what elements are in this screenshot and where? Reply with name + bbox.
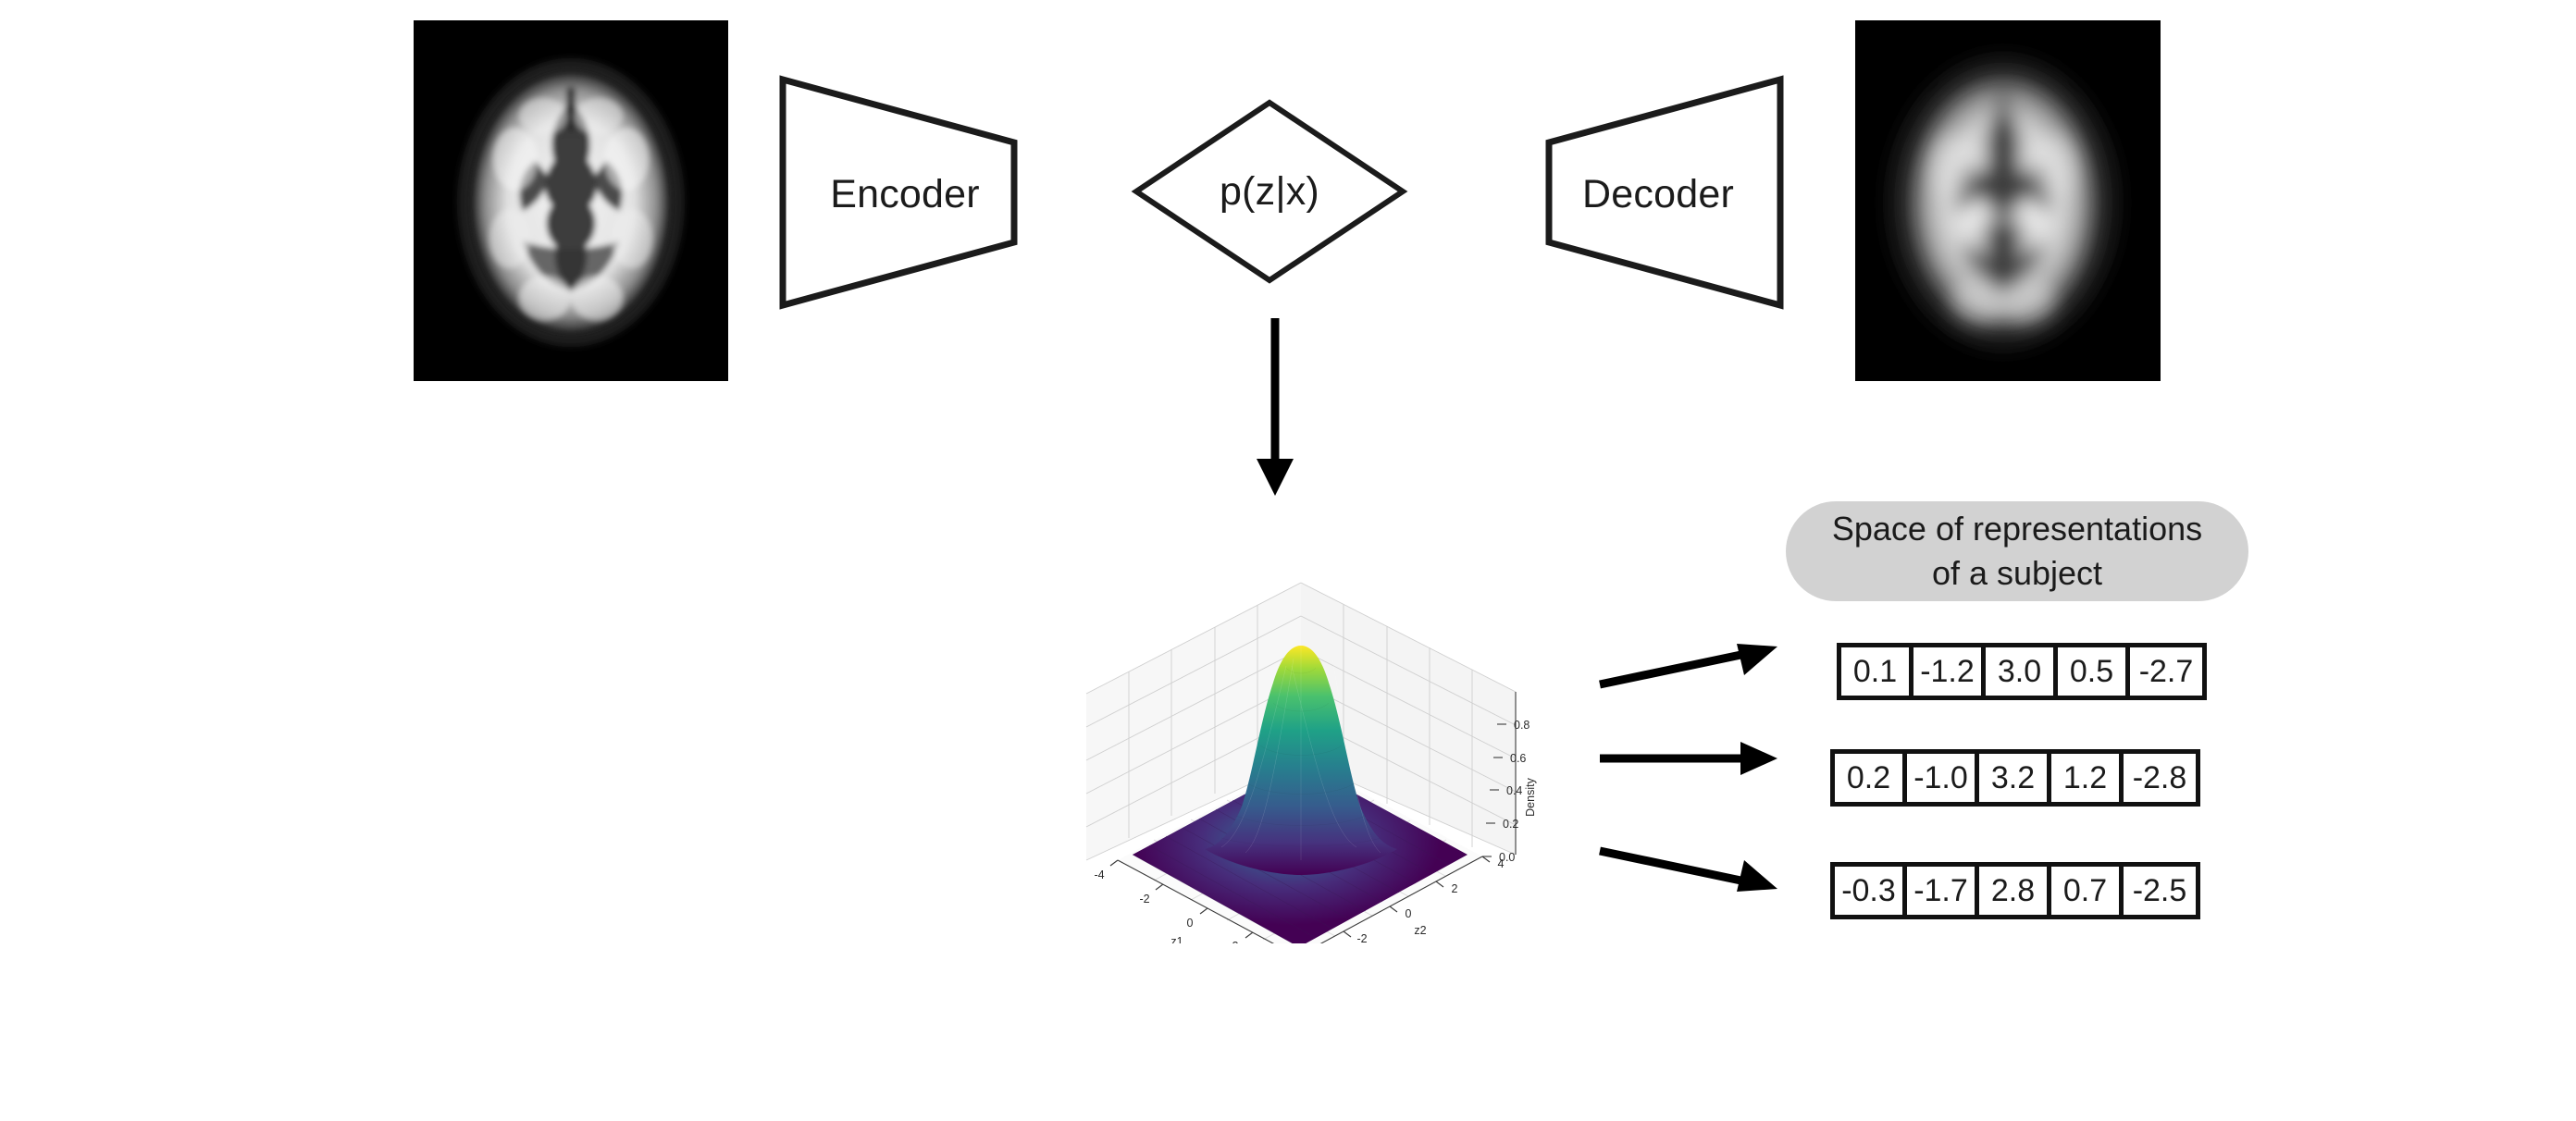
z-axis-label: Density [1524,777,1537,816]
encoder-block[interactable]: Encoder [775,72,1034,313]
x-axis-label: z1 [1170,935,1183,943]
input-brain-scan [414,20,728,381]
vector-cell[interactable]: -2.8 [2124,754,2196,802]
z-tick-4: 0.8 [1514,719,1529,732]
input-brain-svg [414,20,728,381]
representation-row-2[interactable]: 0.2 -1.0 3.2 1.2 -2.8 [1830,749,2200,807]
z-tick-2: 0.4 [1506,784,1522,797]
vector-cell[interactable]: -0.3 [1835,867,1907,915]
z-tick-3: 0.6 [1510,752,1526,765]
vector-cell[interactable]: -1.0 [1907,754,1979,802]
y-tick-3: 2 [1452,882,1458,895]
y-tick-1: -2 [1356,932,1367,943]
up-slanted-arrow-icon [1596,638,1781,694]
latent-block[interactable]: p(z|x) [1131,97,1408,287]
representation-row-3[interactable]: -0.3 -1.7 2.8 0.7 -2.5 [1830,862,2200,919]
latent-to-plot-arrow [1247,314,1303,499]
gaussian-surface-chart: 0.0 0.2 0.4 0.6 0.8 Density -4 -2 0 2 4 … [1064,555,1545,943]
pill-label-line-1: Space of representations [1832,507,2202,551]
y-tick-2: 0 [1406,907,1412,920]
pill-label-line-2: of a subject [1932,551,2102,596]
vector-cell[interactable]: -1.7 [1907,867,1979,915]
plot-to-row3-arrow [1596,842,1781,897]
vector-cell[interactable]: -2.5 [2124,867,2196,915]
down-arrow-icon [1247,314,1303,499]
y-axis-label: z2 [1414,924,1426,937]
vector-cell[interactable]: 0.1 [1841,647,1913,696]
vector-cell[interactable]: -2.7 [2130,647,2202,696]
reconstructed-brain-svg [1855,20,2161,381]
diagram-canvas: Encoder p(z|x) Decoder [0,0,2576,1121]
representation-row-1[interactable]: 0.1 -1.2 3.0 0.5 -2.7 [1837,643,2207,700]
decoder-block[interactable]: Decoder [1529,72,1788,313]
reconstructed-brain-scan [1855,20,2161,381]
x-tick-2: 0 [1187,917,1194,930]
plot-to-row2-arrow [1596,740,1781,777]
representation-space-pill: Space of representations of a subject [1786,501,2248,601]
z-tick-1: 0.2 [1503,818,1518,831]
vector-cell[interactable]: 1.2 [2051,754,2124,802]
x-tick-3: 2 [1232,940,1239,943]
y-tick-4: 4 [1498,857,1505,870]
latent-density-plot: 0.0 0.2 0.4 0.6 0.8 Density -4 -2 0 2 4 … [1064,555,1545,943]
vector-cell[interactable]: 3.2 [1979,754,2051,802]
vector-cell[interactable]: 2.8 [1979,867,2051,915]
encoder-shape [775,72,1034,313]
x-tick-0: -4 [1094,868,1104,881]
plot-to-row1-arrow [1596,638,1781,694]
decoder-shape [1529,72,1788,313]
vector-cell[interactable]: -1.2 [1913,647,1986,696]
vector-cell[interactable]: 0.2 [1835,754,1907,802]
vector-cell[interactable]: 3.0 [1986,647,2058,696]
vector-cell[interactable]: 0.7 [2051,867,2124,915]
x-tick-1: -2 [1139,893,1149,905]
latent-diamond-shape [1131,97,1408,287]
vector-cell[interactable]: 0.5 [2058,647,2130,696]
down-slanted-arrow-icon [1596,842,1781,897]
horizontal-arrow-icon [1596,740,1781,777]
